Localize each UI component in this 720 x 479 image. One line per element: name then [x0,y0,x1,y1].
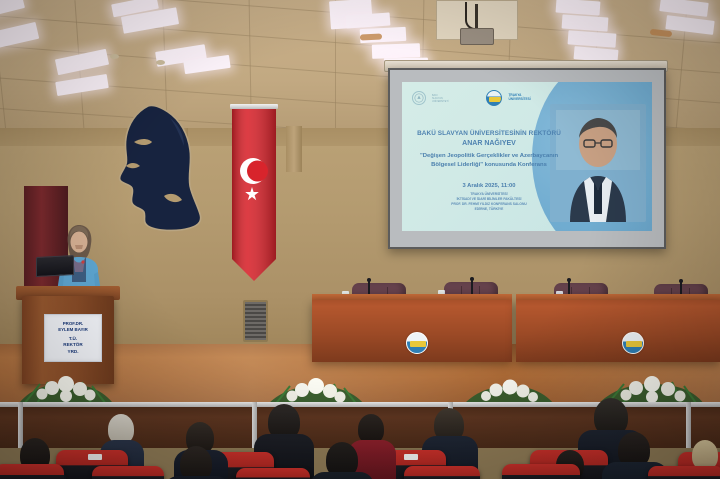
baku-logo-label: BAKI SLAVYAN UNİVERSİTETİ [432,94,448,103]
theater-seat[interactable] [236,468,310,479]
theater-seat[interactable] [404,466,480,479]
smoke-detector [110,54,119,59]
theater-seat[interactable] [648,466,720,479]
projection-screen: BAKI SLAVYAN UNİVERSİTETİ TRAKYA ÜNİVERS… [388,68,666,249]
torso [310,472,374,479]
conference-hall-photo: BAKI SLAVYAN UNİVERSİTETİ TRAKYA ÜNİVERS… [0,0,720,479]
theater-seat[interactable] [502,464,580,479]
microphone-head [679,279,683,283]
microphone-head [367,278,371,282]
slide-line-1: BAKÜ SLAVYAN ÜNİVERSİTESİNİN REKTÖRÜ [408,130,570,137]
projector [460,28,494,45]
podium-laptop [36,255,74,277]
podium-name-sign: PROF.DR. EYLEM BAYIR T.Ü. REKTÖR YRD. [44,314,102,362]
seat-number-tag [88,454,102,460]
podium-sign-name: PROF.DR. EYLEM BAYIR [58,321,88,333]
trakya-university-logo-icon [486,90,502,106]
podium-sign-title: T.Ü. REKTÖR YRD. [63,336,82,355]
theater-seat[interactable] [0,464,64,479]
presentation-slide: BAKI SLAVYAN UNİVERSİTETİ TRAKYA ÜNİVERS… [402,82,652,231]
head [180,446,212,479]
ataturk-silhouette [104,100,212,232]
trakya-university-emblem [406,332,428,354]
wall-air-vent [243,300,268,342]
head-table-right [516,300,720,362]
slide-line-3: "Değişen Jeopolitik Gerçeklikler ve Azer… [408,152,570,169]
baku-slavic-university-logo-icon [412,91,426,105]
wall-pillar [286,126,302,172]
microphone-head [470,277,474,281]
slide-venue: TRAKYA ÜNİVERSİTESİ İKTİSADİ VE İDARİ Bİ… [408,192,570,212]
audience-seating [0,392,720,479]
projector-mount [475,4,478,30]
trakya-logo-label: TRAKYA ÜNİVERSİTESİ [508,94,530,102]
smoke-detector [156,60,165,65]
turkish-flag-banner [232,104,276,300]
slide-logo-row: BAKI SLAVYAN UNİVERSİTETİ TRAKYA ÜNİVERS… [412,88,642,108]
trakya-university-emblem [622,332,644,354]
theater-seat[interactable] [92,466,164,479]
projector-cable [465,2,483,30]
slide-line-2: ANAR NAĞIYEV [408,140,570,147]
ceiling-light [372,43,420,59]
microphone-head [567,278,571,282]
ceiling-vent [360,33,382,40]
seat-number-tag [404,454,418,460]
slide-text-block: BAKÜ SLAVYAN ÜNİVERSİTESİNİN REKTÖRÜ ANA… [408,130,570,213]
flag-cloth [232,109,276,294]
slide-date: 3 Aralık 2025, 11:00 [408,183,570,189]
